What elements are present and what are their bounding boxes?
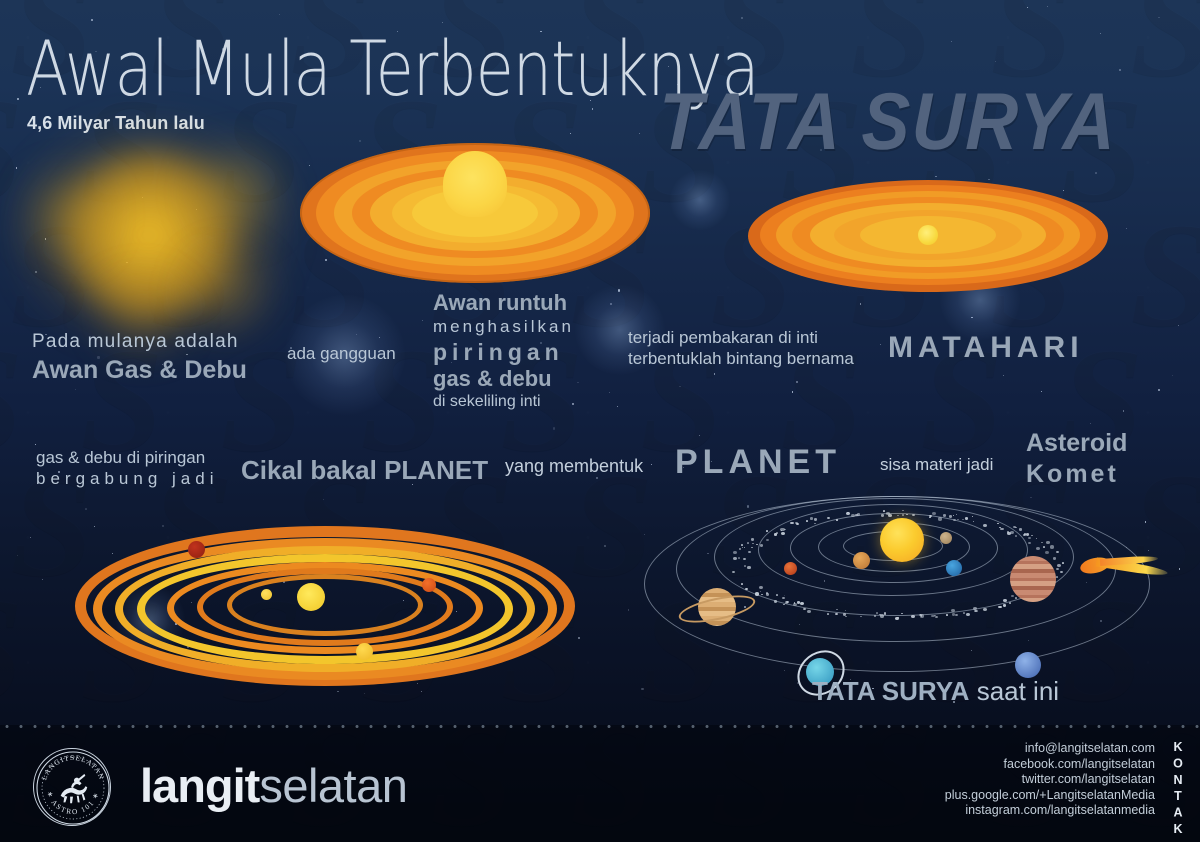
asteroid bbox=[962, 519, 964, 520]
star bbox=[1047, 6, 1048, 7]
asteroid bbox=[1045, 551, 1049, 554]
contact-line[interactable]: instagram.com/langitselatanmedia bbox=[945, 803, 1155, 819]
planet-mars bbox=[784, 562, 797, 575]
star bbox=[1003, 375, 1004, 376]
watermark-letter: S bbox=[1190, 345, 1200, 470]
star bbox=[951, 41, 952, 42]
star bbox=[617, 406, 618, 407]
page-title-big: TATA SURYA bbox=[657, 76, 1119, 168]
label-matahari: MATAHARI bbox=[888, 330, 1084, 367]
asteroid bbox=[743, 558, 746, 560]
planet-jupiter-body bbox=[1010, 556, 1056, 602]
star bbox=[35, 444, 36, 445]
star bbox=[1172, 375, 1173, 376]
asteroid bbox=[751, 547, 753, 548]
star bbox=[1041, 391, 1042, 392]
star bbox=[379, 337, 380, 338]
asteroid bbox=[953, 515, 954, 516]
asteroid bbox=[774, 533, 777, 535]
asteroid bbox=[836, 609, 837, 610]
asteroid bbox=[883, 510, 885, 512]
star bbox=[279, 14, 280, 15]
asteroid bbox=[929, 517, 931, 518]
asteroid bbox=[946, 614, 948, 616]
protoplanet-1 bbox=[188, 541, 205, 558]
star bbox=[699, 435, 700, 436]
label-planet: PLANET bbox=[675, 442, 841, 483]
asteroid bbox=[879, 614, 881, 615]
asteroid bbox=[790, 522, 794, 525]
brand-wordmark[interactable]: langitselatan bbox=[140, 758, 407, 813]
asteroid bbox=[912, 514, 915, 516]
contact-list: info@langitselatan.comfacebook.com/langi… bbox=[945, 741, 1155, 819]
contact-line[interactable]: facebook.com/langitselatan bbox=[945, 757, 1155, 773]
star bbox=[609, 392, 610, 393]
asteroid bbox=[906, 514, 908, 516]
star bbox=[42, 579, 43, 580]
asteroid bbox=[902, 514, 904, 516]
star bbox=[971, 317, 973, 319]
asteroid bbox=[957, 519, 958, 520]
asteroid bbox=[1036, 538, 1037, 539]
asteroid bbox=[881, 514, 884, 517]
star bbox=[1027, 7, 1028, 8]
asteroid bbox=[935, 616, 938, 618]
planet-venus bbox=[853, 552, 870, 569]
asteroid bbox=[966, 613, 970, 616]
asteroid bbox=[1028, 542, 1031, 544]
star bbox=[618, 289, 620, 291]
asteroid bbox=[781, 532, 785, 535]
star bbox=[679, 386, 680, 387]
asteroid bbox=[752, 543, 754, 545]
asteroid bbox=[1007, 532, 1011, 535]
asteroid bbox=[943, 514, 947, 517]
asteroid bbox=[902, 510, 904, 512]
gas-cloud-illustration bbox=[22, 125, 287, 340]
page-title: Awal Mula Terbentuknya bbox=[26, 24, 759, 113]
star bbox=[651, 464, 652, 465]
svg-text:LANGITSELATAN: LANGITSELATAN bbox=[39, 753, 106, 781]
star bbox=[91, 19, 92, 20]
star bbox=[1100, 33, 1101, 34]
asteroid bbox=[932, 512, 936, 515]
star bbox=[17, 98, 19, 100]
asteroid bbox=[845, 610, 847, 611]
asteroid bbox=[739, 548, 741, 549]
asteroid bbox=[814, 518, 817, 521]
asteroid bbox=[956, 514, 957, 515]
asteroid bbox=[760, 544, 763, 547]
star bbox=[422, 320, 423, 321]
asteroid bbox=[766, 539, 769, 541]
asteroid bbox=[901, 613, 903, 614]
star bbox=[356, 334, 357, 335]
asteroid bbox=[827, 517, 830, 519]
star bbox=[741, 17, 743, 19]
star bbox=[323, 499, 324, 500]
asteroid bbox=[888, 514, 891, 517]
star bbox=[578, 637, 580, 639]
protoplanetary-disk-illustration bbox=[75, 512, 575, 697]
star bbox=[995, 61, 996, 62]
asteroid bbox=[814, 523, 815, 524]
asteroid bbox=[807, 610, 811, 613]
asteroid bbox=[741, 544, 743, 546]
planet-sun bbox=[880, 518, 924, 562]
asteroid bbox=[738, 557, 741, 559]
asteroid bbox=[836, 519, 838, 521]
contact-line[interactable]: plus.google.com/+LangitselatanMedia bbox=[945, 788, 1155, 804]
asteroid bbox=[745, 588, 748, 590]
asteroid bbox=[983, 608, 987, 611]
planet-earth bbox=[946, 560, 962, 576]
label-asteroid-komet: Asteroid Komet bbox=[1026, 428, 1127, 489]
asteroid bbox=[796, 523, 799, 526]
protoplanet-2 bbox=[261, 589, 272, 600]
asteroid bbox=[782, 597, 785, 599]
asteroid bbox=[776, 594, 778, 596]
asteroid bbox=[1000, 528, 1003, 531]
asteroid bbox=[951, 609, 955, 612]
star bbox=[30, 537, 31, 538]
star bbox=[1123, 410, 1124, 411]
asteroid bbox=[1026, 533, 1029, 536]
protoplanet-4 bbox=[356, 643, 373, 660]
star bbox=[604, 545, 606, 547]
asteroid bbox=[965, 517, 968, 520]
star bbox=[1126, 228, 1127, 229]
star bbox=[1030, 497, 1032, 499]
footer-divider bbox=[0, 725, 1200, 728]
star bbox=[442, 22, 443, 23]
asteroid bbox=[1011, 595, 1013, 597]
brand-bold: langit bbox=[140, 759, 259, 812]
star bbox=[553, 427, 555, 429]
asteroid bbox=[953, 519, 956, 521]
caption-cloud: Pada mulanya adalah Awan Gas & Debu bbox=[32, 330, 247, 386]
asteroid bbox=[744, 565, 746, 567]
asteroid bbox=[747, 566, 751, 569]
caption-star-formation: terjadi pembakaran di inti terbentuklah … bbox=[628, 328, 854, 369]
langitselatan-logo[interactable]: LANGITSELATAN ∗ ASTRO 101 ∗ bbox=[33, 748, 111, 826]
asteroid bbox=[876, 612, 878, 614]
asteroid bbox=[761, 594, 762, 595]
asteroid bbox=[1019, 528, 1022, 530]
asteroid bbox=[756, 544, 758, 545]
label-cikal-bakal-planet: Cikal bakal PLANET bbox=[241, 455, 488, 487]
star bbox=[570, 133, 571, 134]
asteroid bbox=[766, 592, 768, 594]
asteroid bbox=[810, 517, 813, 519]
star bbox=[1158, 17, 1160, 19]
brand-light: selatan bbox=[259, 759, 407, 812]
comet-icon bbox=[1080, 554, 1166, 580]
asteroid bbox=[1015, 535, 1017, 536]
caption-leftovers: sisa materi jadi bbox=[880, 455, 993, 476]
star bbox=[1090, 423, 1091, 424]
asteroid bbox=[1046, 541, 1049, 544]
watermark-letter: S bbox=[1120, 0, 1200, 95]
asteroid bbox=[800, 602, 804, 605]
asteroid bbox=[741, 583, 744, 585]
contact-line[interactable]: info@langitselatan.com bbox=[945, 741, 1155, 757]
protostar-core bbox=[297, 583, 325, 611]
star bbox=[85, 508, 87, 510]
star bbox=[639, 133, 640, 134]
star bbox=[796, 381, 798, 383]
star bbox=[1119, 69, 1121, 71]
asteroid bbox=[938, 517, 942, 520]
star bbox=[714, 373, 716, 375]
caption-protoplanets: gas & debu di piringan bergabung jadi bbox=[36, 448, 218, 489]
asteroid bbox=[747, 542, 749, 544]
asteroid bbox=[1015, 597, 1017, 599]
asteroid bbox=[1031, 535, 1033, 536]
asteroid bbox=[827, 613, 829, 615]
protoplanet-3 bbox=[422, 578, 436, 592]
asteroid bbox=[755, 592, 759, 595]
asteroid bbox=[1060, 571, 1062, 573]
asteroid bbox=[884, 612, 887, 614]
star bbox=[880, 344, 881, 345]
caption-solar-system-today: TATA SURYA saat ini bbox=[812, 676, 1059, 708]
asteroid bbox=[751, 538, 755, 541]
infographic-poster: SSSSSSSSSSSSSSSSSSSSSSSSSSSSSSSSSSSSSSSS… bbox=[0, 0, 1200, 842]
asteroid bbox=[1028, 537, 1030, 539]
star bbox=[935, 176, 937, 178]
star bbox=[628, 609, 630, 611]
watermark-letter: S bbox=[1190, 595, 1200, 720]
asteroid bbox=[742, 547, 743, 548]
contact-line[interactable]: twitter.com/langitselatan bbox=[945, 772, 1155, 788]
asteroid bbox=[952, 613, 955, 616]
sun-formation-disk-illustration bbox=[748, 180, 1108, 292]
asteroid bbox=[806, 520, 808, 522]
asteroid bbox=[1056, 576, 1058, 578]
asteroid bbox=[973, 521, 974, 522]
asteroid bbox=[1050, 545, 1054, 548]
planet-neptune bbox=[1015, 652, 1041, 678]
star bbox=[75, 389, 76, 390]
watermark-letter: S bbox=[1120, 220, 1200, 345]
asteroid bbox=[949, 515, 953, 518]
logo-emblem-icon: LANGITSELATAN ∗ ASTRO 101 ∗ bbox=[34, 749, 112, 827]
asteroid bbox=[766, 530, 768, 532]
asteroid bbox=[744, 547, 745, 548]
star bbox=[1095, 172, 1097, 174]
watermark-letter: S bbox=[1190, 95, 1200, 220]
star bbox=[792, 391, 794, 393]
asteroid bbox=[855, 514, 857, 516]
asteroid bbox=[733, 557, 737, 560]
asteroid bbox=[784, 529, 785, 530]
asteroid bbox=[759, 586, 763, 589]
star bbox=[16, 167, 17, 168]
asteroid bbox=[860, 616, 862, 617]
star bbox=[17, 555, 18, 556]
star bbox=[860, 303, 861, 304]
asteroid bbox=[897, 515, 899, 517]
star bbox=[1158, 389, 1160, 391]
asteroid bbox=[886, 512, 889, 515]
caption-forming: yang membentuk bbox=[505, 456, 643, 478]
asteroid bbox=[793, 603, 797, 606]
asteroid bbox=[1043, 546, 1045, 548]
asteroid bbox=[835, 613, 838, 616]
asteroid bbox=[1053, 557, 1057, 560]
asteroid bbox=[1003, 604, 1006, 607]
asteroid bbox=[1024, 533, 1026, 534]
collapsing-disk-illustration bbox=[300, 143, 650, 283]
asteroid bbox=[983, 524, 987, 527]
star bbox=[610, 303, 612, 305]
asteroid bbox=[874, 615, 876, 616]
caption-collapse: Awan runtuh menghasilkan piringan gas & … bbox=[433, 290, 608, 412]
kontak-label: KONTAK bbox=[1168, 740, 1184, 838]
asteroid bbox=[748, 551, 751, 553]
asteroid bbox=[1036, 547, 1040, 550]
star bbox=[1178, 325, 1179, 326]
planet-mercury bbox=[940, 532, 952, 544]
watermark-letter: S bbox=[0, 595, 70, 720]
asteroid bbox=[997, 523, 999, 524]
asteroid bbox=[785, 601, 788, 603]
nebula-glow bbox=[670, 170, 730, 230]
caption-disturbance: ada gangguan bbox=[287, 344, 396, 365]
